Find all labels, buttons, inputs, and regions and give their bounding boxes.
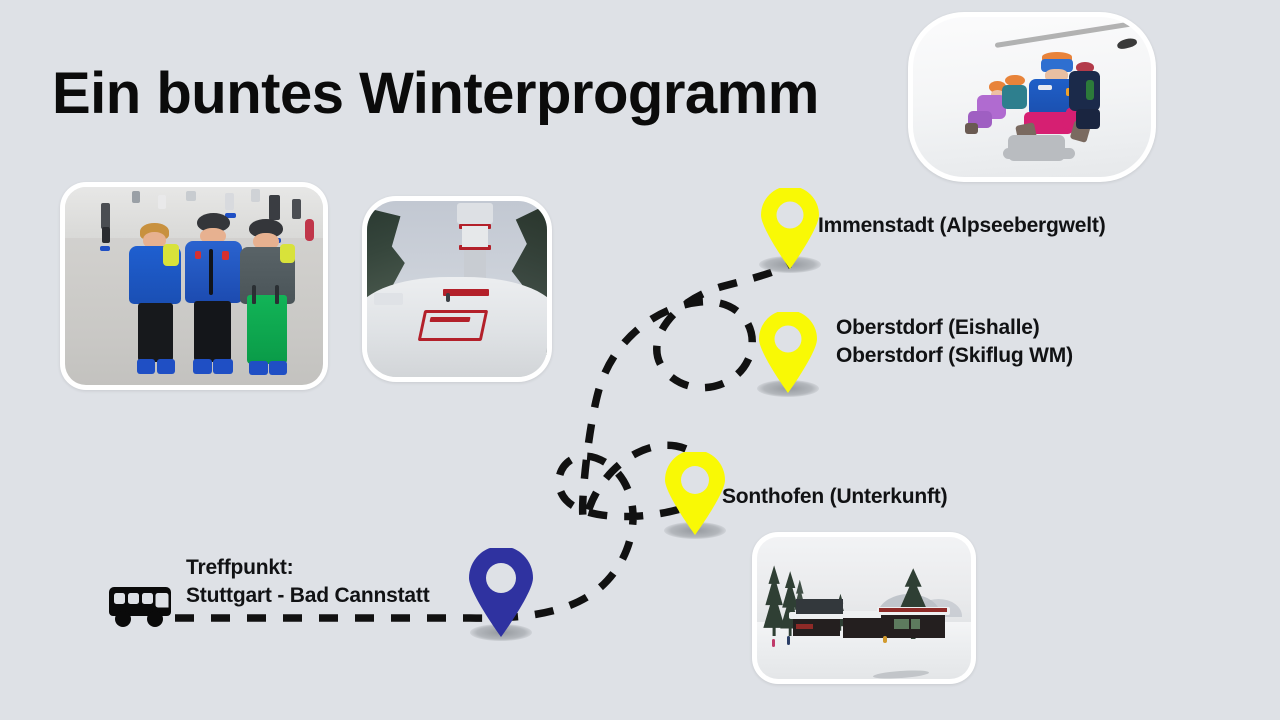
photo-lodge-image bbox=[757, 537, 971, 679]
map-pin-immenstadt[interactable] bbox=[758, 188, 822, 270]
label-treffpunkt: Treffpunkt: Stuttgart - Bad Cannstatt bbox=[186, 554, 430, 609]
label-immenstadt: Immenstadt (Alpseebergwelt) bbox=[818, 212, 1106, 240]
page-title: Ein buntes Winterprogramm bbox=[52, 64, 819, 125]
photo-ski-jump bbox=[362, 196, 552, 382]
label-immenstadt-line1: Immenstadt (Alpseebergwelt) bbox=[818, 212, 1106, 240]
photo-ice-skating bbox=[60, 182, 328, 390]
label-oberstdorf-line2: Oberstdorf (Skiflug WM) bbox=[836, 342, 1073, 370]
label-sonthofen: Sonthofen (Unterkunft) bbox=[722, 483, 947, 511]
label-oberstdorf-line1: Oberstdorf (Eishalle) bbox=[836, 314, 1073, 342]
map-pin-icon bbox=[756, 312, 820, 394]
photo-sledding bbox=[908, 12, 1156, 182]
map-pin-icon bbox=[466, 548, 536, 638]
photo-ice-skating-image bbox=[65, 187, 323, 385]
bus-icon bbox=[106, 586, 178, 628]
photo-lodge bbox=[752, 532, 976, 684]
map-pin-sonthofen[interactable] bbox=[662, 452, 728, 536]
slide-canvas: Ein buntes Winterprogramm bbox=[0, 0, 1280, 720]
label-treffpunkt-line2: Stuttgart - Bad Cannstatt bbox=[186, 582, 430, 610]
map-pin-stuttgart[interactable] bbox=[466, 548, 536, 638]
label-sonthofen-line1: Sonthofen (Unterkunft) bbox=[722, 483, 947, 511]
map-pin-icon bbox=[662, 452, 728, 536]
label-treffpunkt-line1: Treffpunkt: bbox=[186, 554, 430, 582]
photo-ski-jump-image bbox=[367, 201, 547, 377]
map-pin-icon bbox=[758, 188, 822, 270]
label-oberstdorf: Oberstdorf (Eishalle) Oberstdorf (Skiflu… bbox=[836, 314, 1073, 369]
map-pin-oberstdorf[interactable] bbox=[756, 312, 820, 394]
photo-sledding-image bbox=[913, 17, 1151, 177]
